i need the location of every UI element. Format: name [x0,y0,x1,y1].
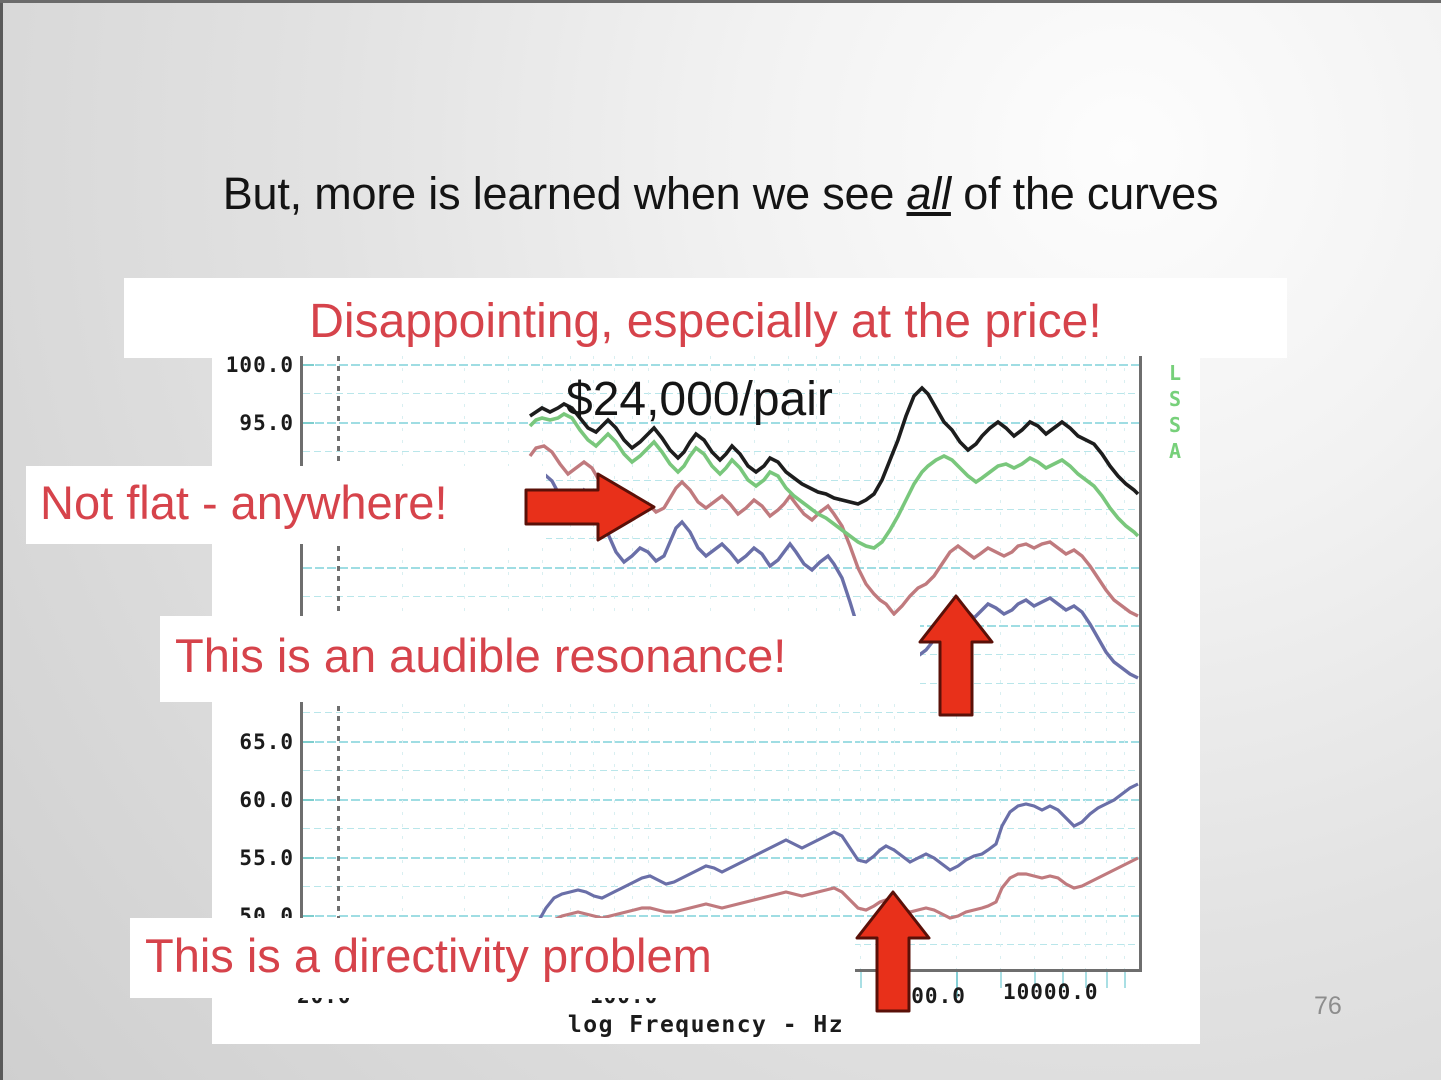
resonance-annotation-text: This is an audible resonance! [175,628,786,683]
arrow-up-directivity-icon [855,890,931,1014]
directivity-annotation-text: This is a directivity problem [145,928,712,983]
price-annotation-text: $24,000/pair [566,372,833,427]
xtick-mark [1000,972,1002,988]
curve-sound-power-di [530,784,1138,934]
slide-page-number: 76 [1314,992,1342,1021]
page-title: But, more is learned when we see all of … [0,168,1441,220]
arrow-right-not-flat-icon [524,472,656,542]
page-title-suffix: of the curves [951,168,1218,219]
banner-annotation-text: Disappointing, especially at the price! [124,294,1287,349]
slide-left-edge [0,0,3,1080]
xtick-mark [1106,972,1108,988]
x-axis-caption: log Frequency - Hz [212,1012,1200,1038]
xtick-label-10000: 10000.0 [1003,980,1099,1004]
slide-top-edge [0,0,1441,3]
not-flat-annotation-text: Not flat - anywhere! [40,475,448,530]
page-title-prefix: But, more is learned when we see [223,168,907,219]
arrow-up-resonance-icon [918,594,994,718]
xtick-mark [1124,972,1126,988]
page-title-emphasis: all [906,168,950,219]
